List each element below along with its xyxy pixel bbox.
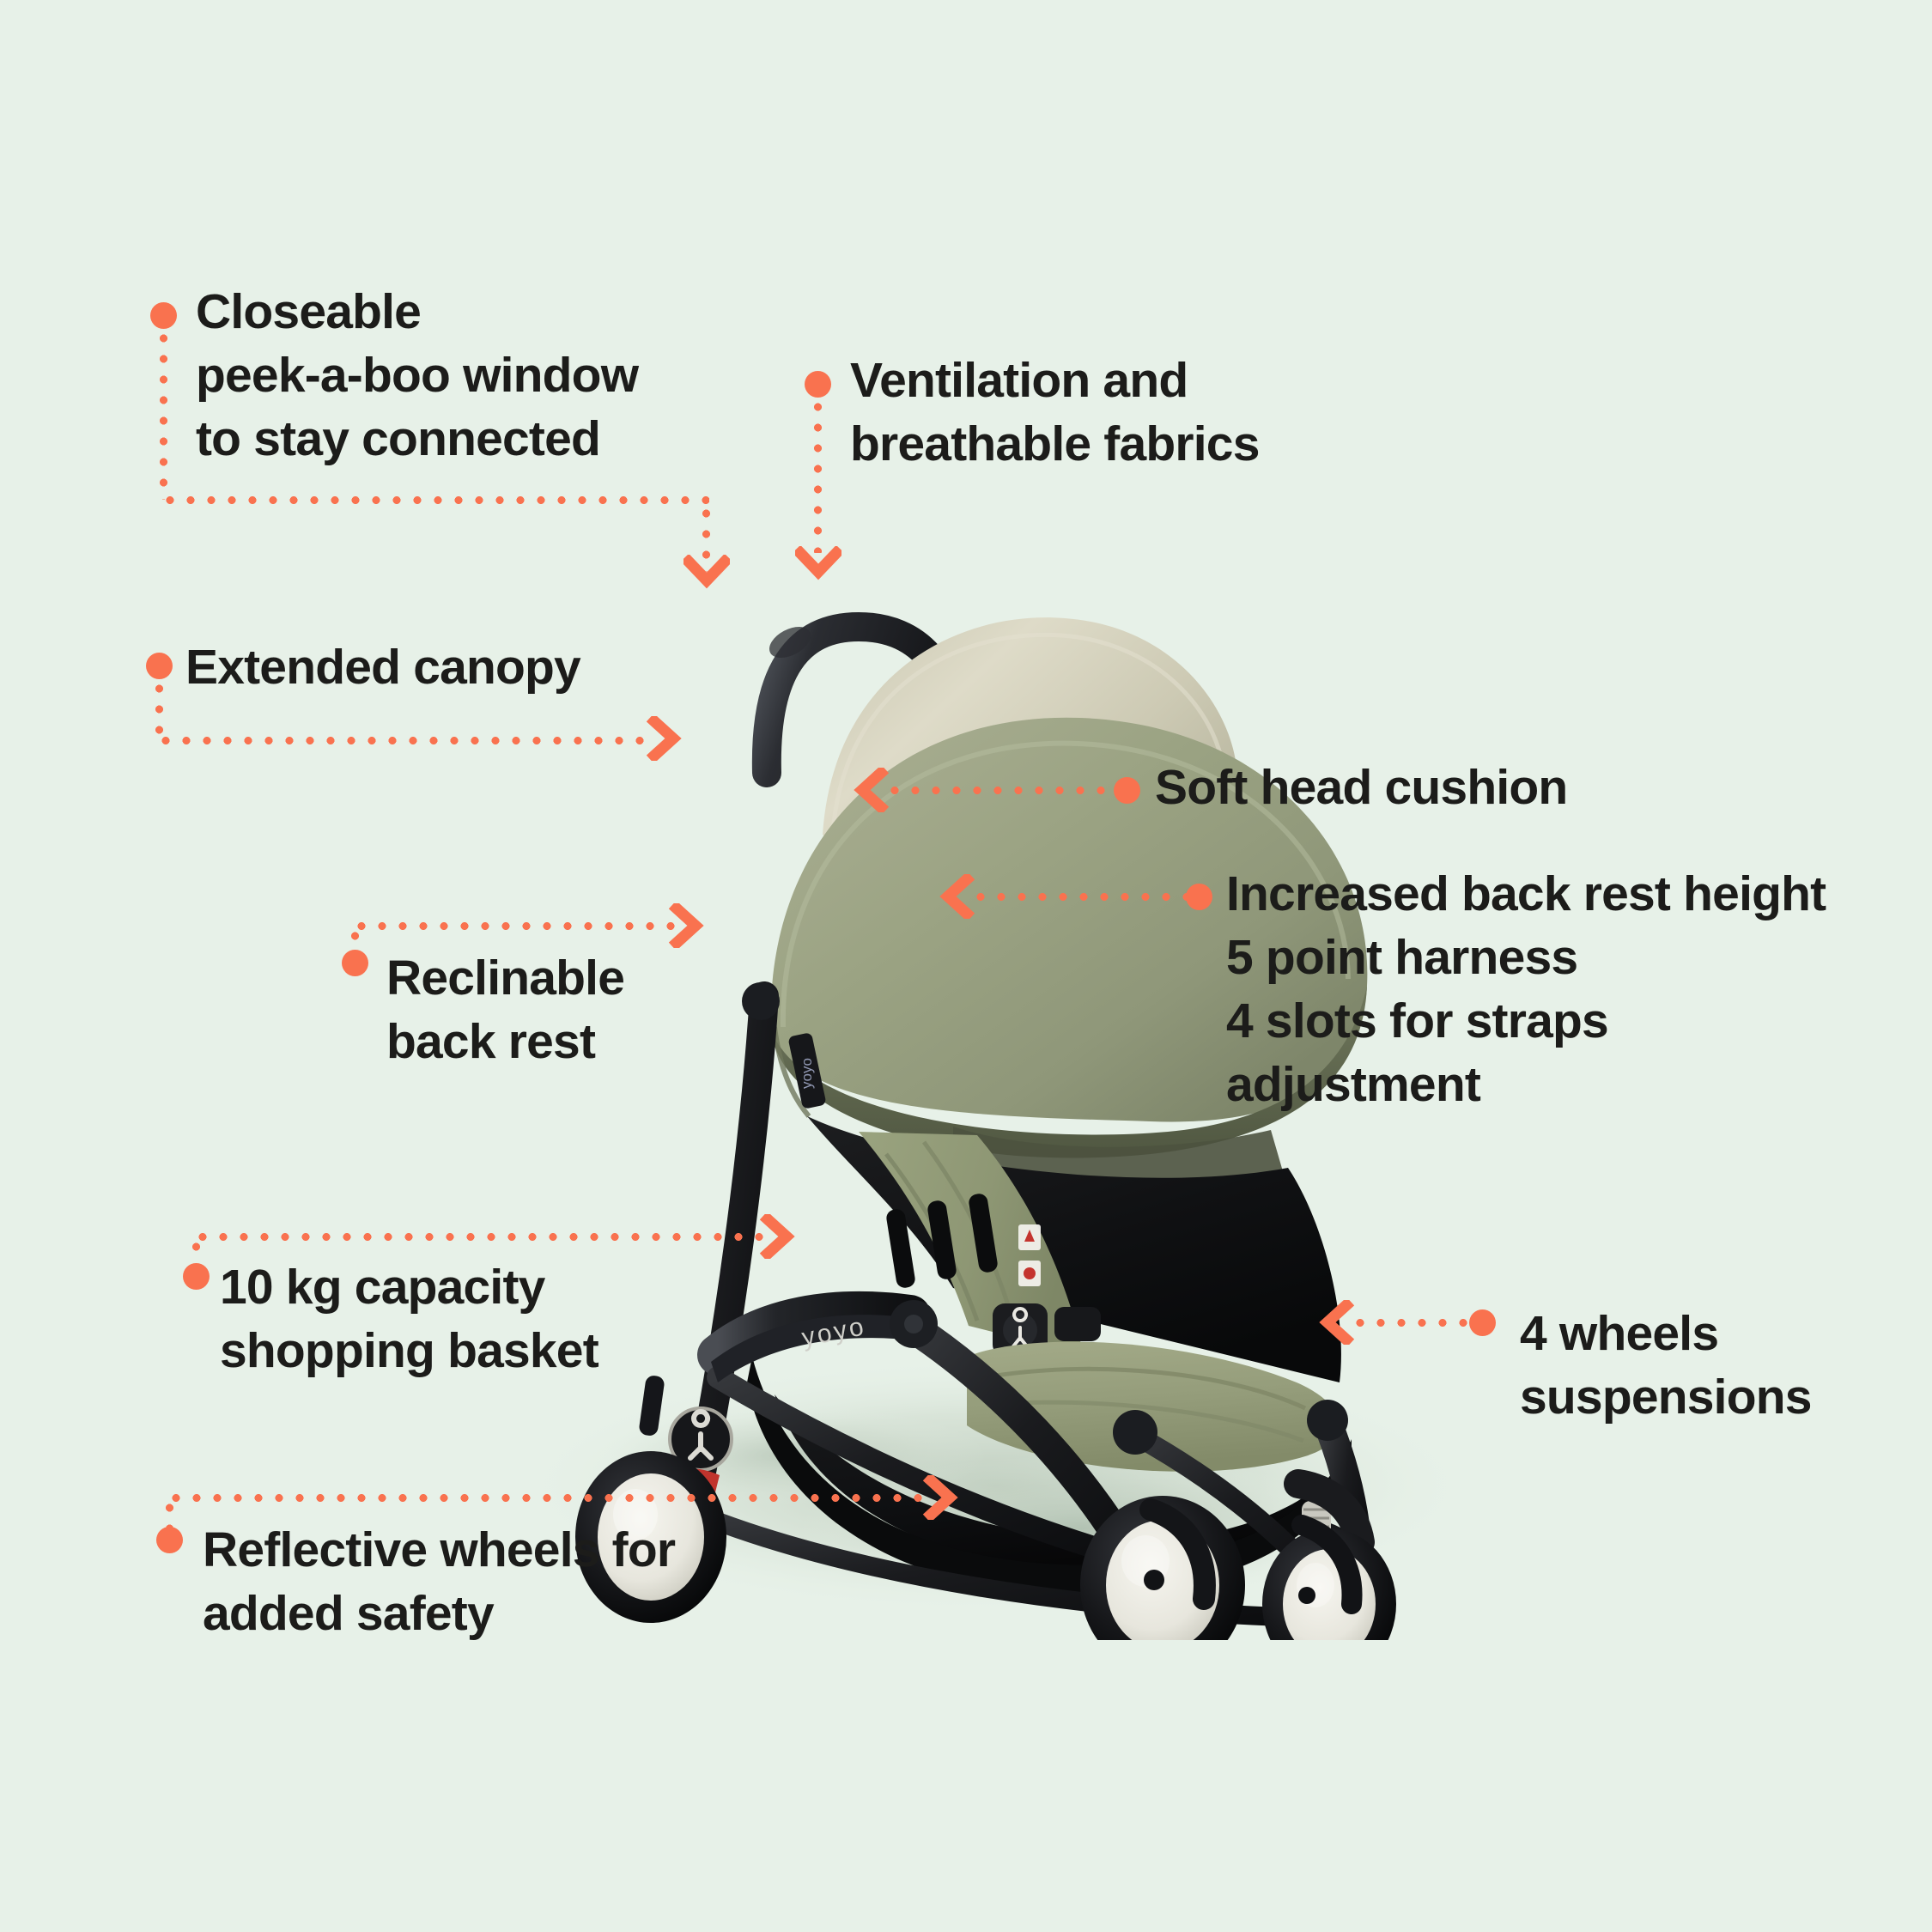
chevron-down-icon-closeable-window [683, 555, 730, 592]
callout-shopping-basket: 10 kg capacity shopping basket [220, 1255, 666, 1382]
chevron-right-icon-reflective-wheels [922, 1475, 960, 1520]
infographic-canvas: yoyo [0, 0, 1932, 1932]
rear-right-wheel [1262, 1484, 1396, 1640]
chevron-right-icon-reclinable-back-rest [668, 903, 706, 948]
marker-dot-soft-head-cushion [1114, 777, 1140, 804]
chevron-left-icon-soft-head-cushion [852, 768, 890, 812]
marker-dot-extended-canopy [146, 653, 173, 679]
callout-reclinable-back-rest: Reclinable back rest [386, 946, 747, 1073]
connector-extended-canopy-v [155, 678, 163, 742]
marker-dot-reclinable-back-rest [342, 950, 368, 976]
chevron-left-icon-back-rest-harness [938, 874, 975, 919]
connector-closeable-window-v1 [160, 328, 167, 500]
connector-closeable-window-h [160, 496, 709, 504]
marker-dot-wheels-suspensions [1469, 1309, 1496, 1336]
callout-back-rest-harness: Increased back rest height 5 point harne… [1226, 862, 1862, 1116]
marker-dot-shopping-basket [183, 1263, 210, 1290]
callout-soft-head-cushion: Soft head cushion [1155, 756, 1756, 819]
callout-ventilation: Ventilation and breathable fabrics [850, 349, 1331, 476]
callout-wheels-suspensions: 4 wheels suspensions [1520, 1302, 1898, 1429]
callout-extended-canopy: Extended canopy [185, 635, 666, 699]
marker-dot-ventilation [805, 371, 831, 398]
marker-dot-back-rest-harness [1186, 884, 1212, 910]
svg-text:yoyo: yoyo [799, 1058, 815, 1089]
chevron-left-icon-wheels-suspensions [1317, 1300, 1355, 1345]
callout-closeable-window: Closeable peek-a-boo window to stay conn… [196, 280, 745, 471]
chevron-right-icon-extended-canopy [646, 716, 683, 761]
chevron-down-icon-ventilation [795, 546, 841, 584]
chevron-right-icon-shopping-basket [759, 1214, 797, 1259]
marker-dot-closeable-window [150, 302, 177, 329]
marker-dot-reflective-wheels [156, 1527, 183, 1553]
callout-reflective-wheels: Reflective wheels for added safety [203, 1518, 718, 1645]
